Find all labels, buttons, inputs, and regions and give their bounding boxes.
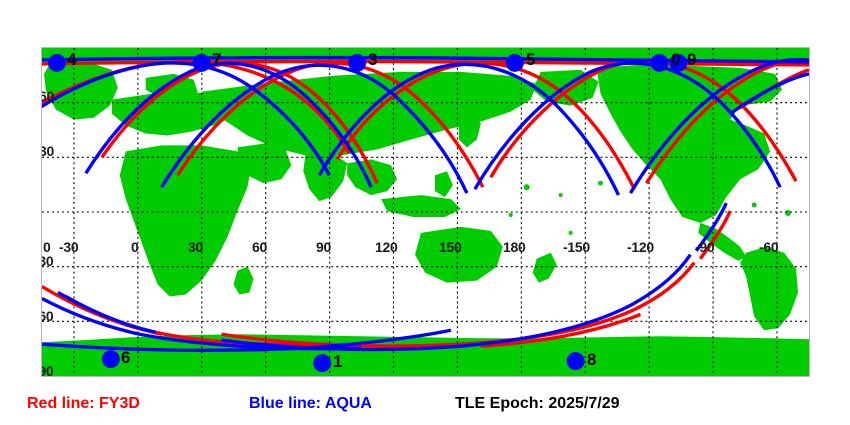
marker-label-3: 3 — [368, 51, 377, 68]
lon-label--30: -30 — [59, 240, 78, 254]
lat-label-60: 60 — [41, 89, 54, 103]
lat-label-0: 0 — [43, 240, 51, 254]
lon-label--120: -120 — [627, 240, 654, 254]
legend-tle-epoch: TLE Epoch: 2025/7/29 — [455, 396, 620, 412]
ground-track-map: -30 0 30 60 90 120 150 180 -150 -120 -90… — [41, 47, 810, 377]
lon-label--90: -90 — [695, 240, 714, 254]
lon-label--60: -60 — [759, 240, 778, 254]
marker-dot-3 — [348, 54, 366, 72]
marker-label-1: 1 — [333, 353, 342, 370]
marker-label-6: 6 — [121, 349, 130, 366]
marker-label-0: 0 — [671, 51, 680, 68]
lon-label-180: 180 — [503, 240, 525, 254]
marker-dot-0 — [650, 54, 668, 72]
lon-label-120: 120 — [375, 240, 397, 254]
marker-dot-4 — [48, 54, 66, 72]
marker-dot-5 — [506, 54, 524, 72]
lon-label-150: 150 — [439, 240, 461, 254]
marker-label-9: 9 — [687, 51, 696, 68]
marker-label-5: 5 — [526, 51, 535, 68]
marker-dot-1 — [313, 354, 331, 372]
legend-blue-line: Blue line: AQUA — [249, 396, 372, 412]
marker-dot-6 — [102, 350, 120, 368]
lon-label-90: 90 — [316, 240, 331, 254]
lon-label-60: 60 — [252, 240, 267, 254]
map-canvas — [42, 48, 809, 376]
marker-label-8: 8 — [587, 351, 596, 368]
marker-label-7: 7 — [212, 51, 221, 68]
lat-label--30: -30 — [41, 254, 53, 268]
marker-dot-7 — [193, 54, 211, 72]
marker-dot-8 — [567, 352, 585, 370]
lon-label--150: -150 — [563, 240, 590, 254]
lat-label--90: -90 — [41, 364, 53, 377]
legend-red-line: Red line: FY3D — [27, 396, 140, 412]
marker-label-4: 4 — [67, 51, 76, 68]
lat-label-30: 30 — [41, 144, 54, 158]
lon-label-30: 30 — [188, 240, 203, 254]
lon-label-0: 0 — [131, 240, 139, 254]
lat-label--60: -60 — [41, 309, 53, 323]
